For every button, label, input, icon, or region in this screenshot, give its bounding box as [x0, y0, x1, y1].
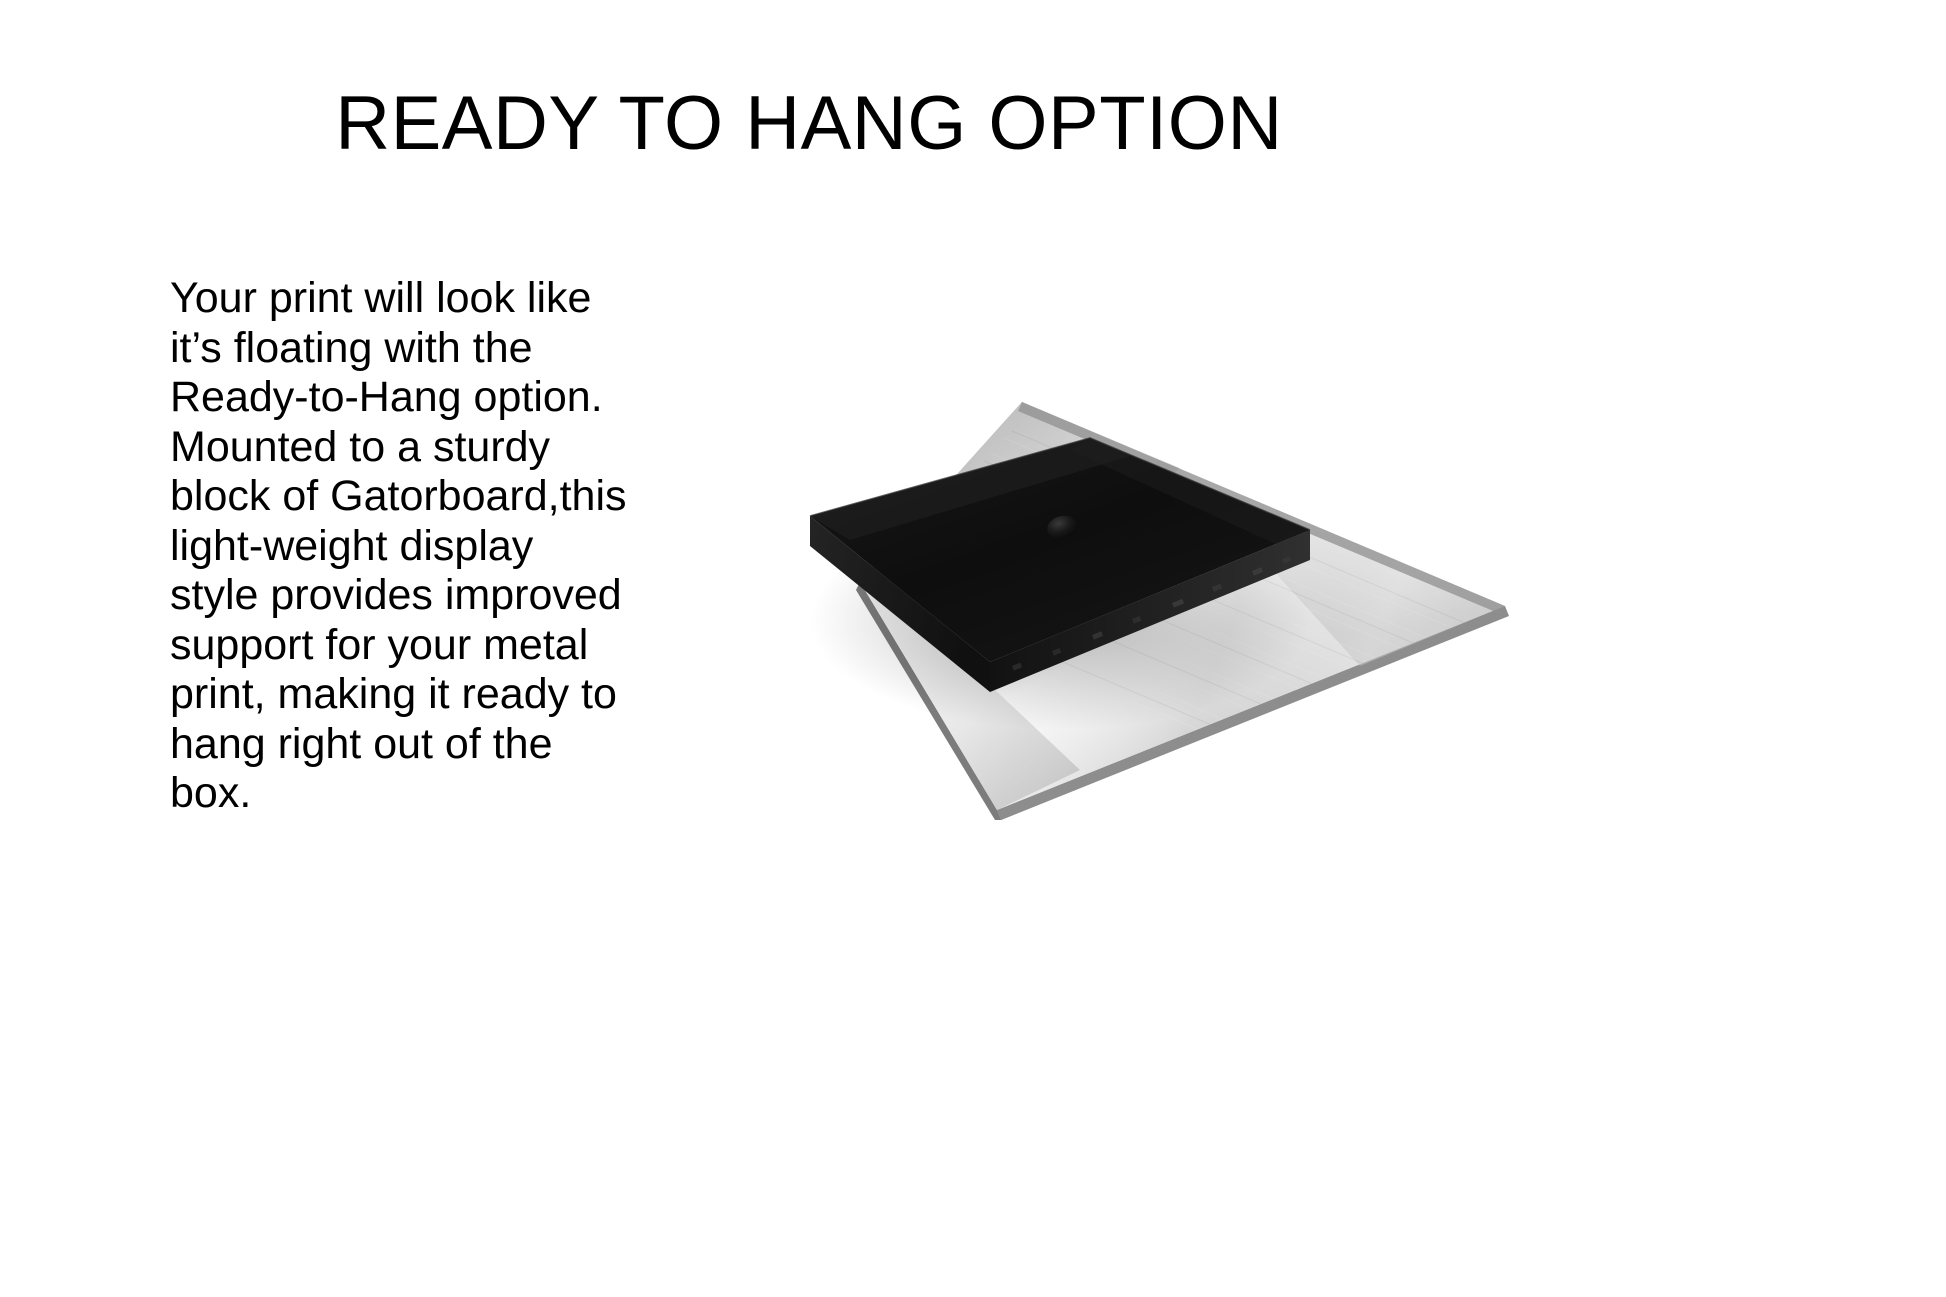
body-line: it’s floating with the: [170, 324, 610, 374]
body-line: support for your metal: [170, 621, 610, 671]
body-line: Ready-to-Hang option.: [170, 373, 610, 423]
product-photo-metal-print: [660, 370, 1560, 840]
body-line: Mounted to a sturdy: [170, 423, 610, 473]
body-line: print, making it ready to: [170, 670, 610, 720]
body-line: block of Gatorboard,this: [170, 472, 610, 522]
page-title: READY TO HANG OPTION: [0, 86, 1782, 162]
body-line: style provides improved: [170, 571, 610, 621]
body-line: Your print will look like: [170, 274, 610, 324]
body-line: hang right out of the: [170, 720, 610, 770]
body-line: box.: [170, 769, 610, 819]
body-paragraph: Your print will look like it’s floating …: [170, 274, 610, 819]
body-line: light-weight display: [170, 522, 610, 572]
slide-canvas: READY TO HANG OPTION Your print will loo…: [0, 0, 1946, 1297]
